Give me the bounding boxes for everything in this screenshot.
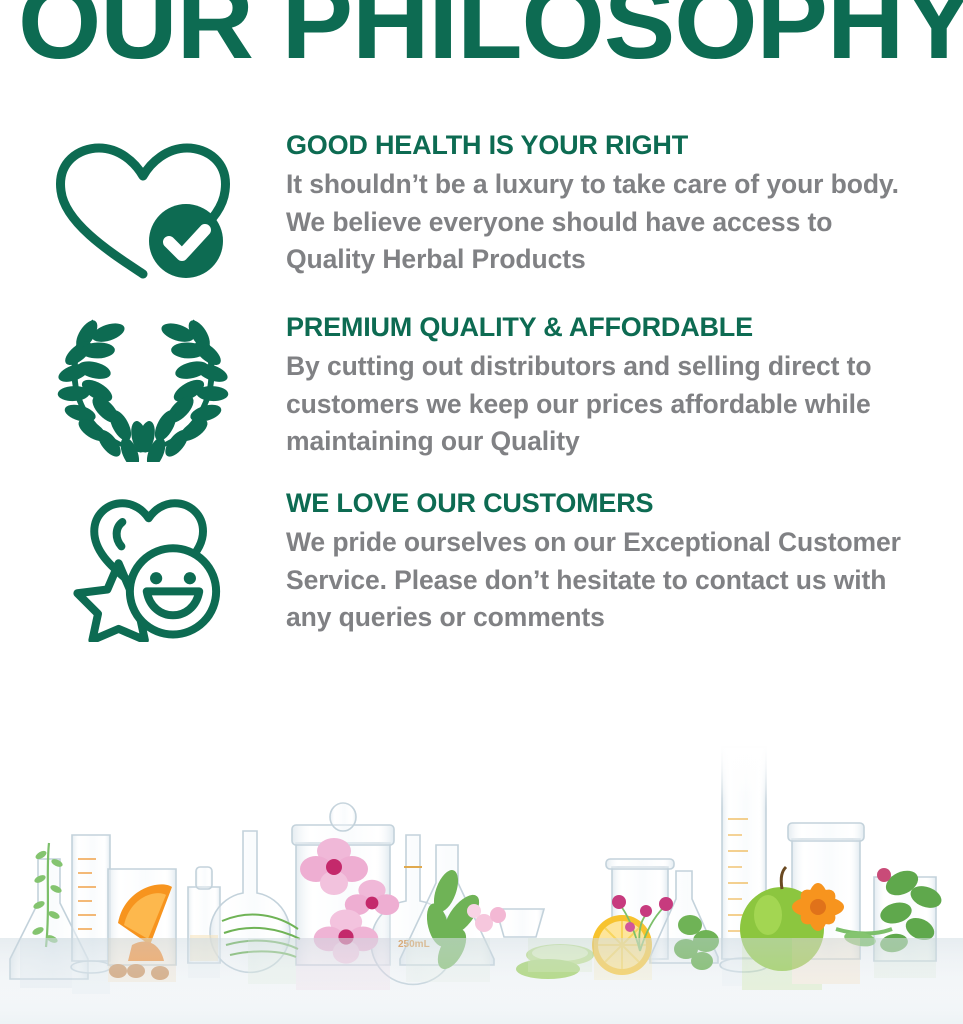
feature-icon-container (0, 130, 286, 286)
feature-item-we-love-customers: WE LOVE OUR CUSTOMERS We pride ourselves… (0, 488, 963, 642)
feature-body: It shouldn’t be a luxury to take care of… (286, 166, 911, 279)
feature-item-premium-quality: PREMIUM QUALITY & AFFORDABLE By cutting … (0, 312, 963, 462)
heart-check-icon (43, 136, 243, 286)
feature-item-good-health: GOOD HEALTH IS YOUR RIGHT It shouldn’t b… (0, 130, 963, 286)
feature-text-container: GOOD HEALTH IS YOUR RIGHT It shouldn’t b… (286, 130, 963, 279)
feature-heading: WE LOVE OUR CUSTOMERS (286, 488, 943, 519)
lab-glassware-photo: 250mL (0, 739, 963, 1024)
philosophy-page: OUR PHILOSOPHY GOOD HEALTH IS YOUR RIGHT… (0, 0, 963, 1024)
laurel-wreath-icon (43, 312, 243, 462)
feature-body: We pride ourselves on our Exceptional Cu… (286, 524, 911, 637)
feature-heading: PREMIUM QUALITY & AFFORDABLE (286, 312, 943, 343)
feature-heading: GOOD HEALTH IS YOUR RIGHT (286, 130, 943, 161)
feature-body: By cutting out distributors and selling … (286, 348, 911, 461)
feature-icon-container (0, 488, 286, 642)
heart-star-smiley-icon (43, 492, 243, 642)
feature-list: GOOD HEALTH IS YOUR RIGHT It shouldn’t b… (0, 130, 963, 668)
reflection-band (0, 938, 963, 1024)
reflections (0, 938, 963, 1024)
page-title: OUR PHILOSOPHY (18, 0, 963, 75)
feature-text-container: PREMIUM QUALITY & AFFORDABLE By cutting … (286, 312, 963, 461)
feature-text-container: WE LOVE OUR CUSTOMERS We pride ourselves… (286, 488, 963, 637)
feature-icon-container (0, 312, 286, 462)
